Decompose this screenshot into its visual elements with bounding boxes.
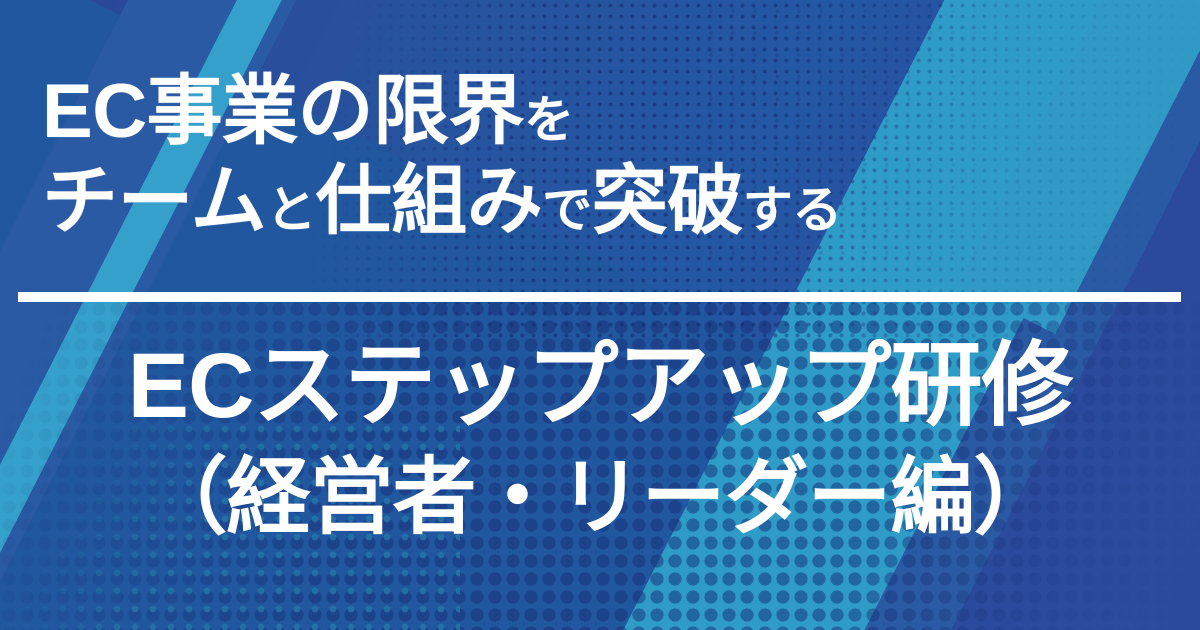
headline-line-1: EC事業の限界を [42,74,1162,150]
divider-rule [18,292,1181,302]
headline-line-2-part-2: と [266,182,316,238]
subject-title: ECステップアップ研修 （経営者・リーダー編） [0,338,1200,541]
headline-line-2-part-1: チーム [42,159,266,244]
headline: EC事業の限界を チームと仕組みで突破する [42,74,1162,240]
headline-line-2-part-3: 仕組み [316,159,543,244]
banner-content: EC事業の限界を チームと仕組みで突破する ECステップアップ研修 （経営者・リ… [0,0,1200,630]
headline-line-1-part-2: を [524,92,574,148]
subject-title-audience: （経営者・リーダー編） [0,453,1200,541]
headline-line-2-part-4: で [542,182,592,238]
promo-banner: EC事業の限界を チームと仕組みで突破する ECステップアップ研修 （経営者・リ… [0,0,1200,630]
subject-title-main: ECステップアップ研修 [0,338,1200,435]
headline-line-2-part-5: 突破 [592,159,743,244]
headline-line-1-part-1: EC事業の限界 [42,69,524,154]
headline-line-2: チームと仕組みで突破する [42,164,1162,240]
headline-line-2-part-6: する [743,182,842,238]
